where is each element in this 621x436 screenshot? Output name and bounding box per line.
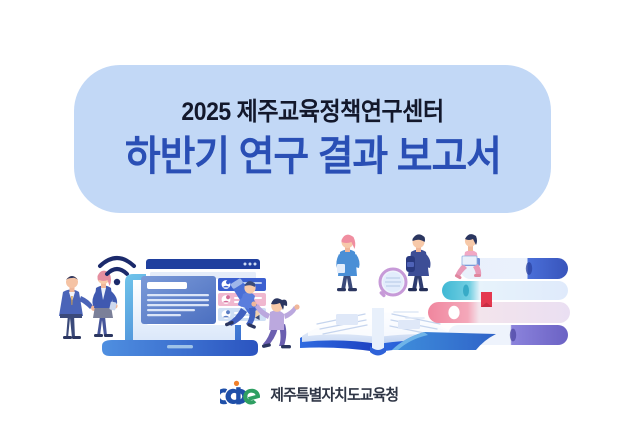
page-title: 하반기 연구 결과 보고서 — [125, 135, 501, 178]
businesswoman-figure — [92, 271, 117, 337]
je-logo-icon — [220, 380, 260, 411]
stack-book-2 — [442, 281, 568, 300]
title-card: 2025 제주교육정책연구센터 하반기 연구 결과 보고서 — [74, 65, 551, 213]
poster-root: 2025 제주교육정책연구센터 하반기 연구 결과 보고서 — [0, 0, 621, 436]
magnifier-icon — [379, 269, 406, 298]
eyebrow-text: 2025 제주교육정책연구센터 — [181, 100, 443, 125]
footer-logo: 제주특별자치도교육청 — [0, 380, 621, 411]
backpack-figure — [406, 234, 431, 291]
content-card — [141, 276, 216, 324]
businessman-figure — [59, 276, 97, 339]
standing-reader-figure — [336, 235, 359, 292]
organization-name: 제주특별자치도교육청 — [270, 388, 398, 404]
illustration — [0, 228, 621, 368]
